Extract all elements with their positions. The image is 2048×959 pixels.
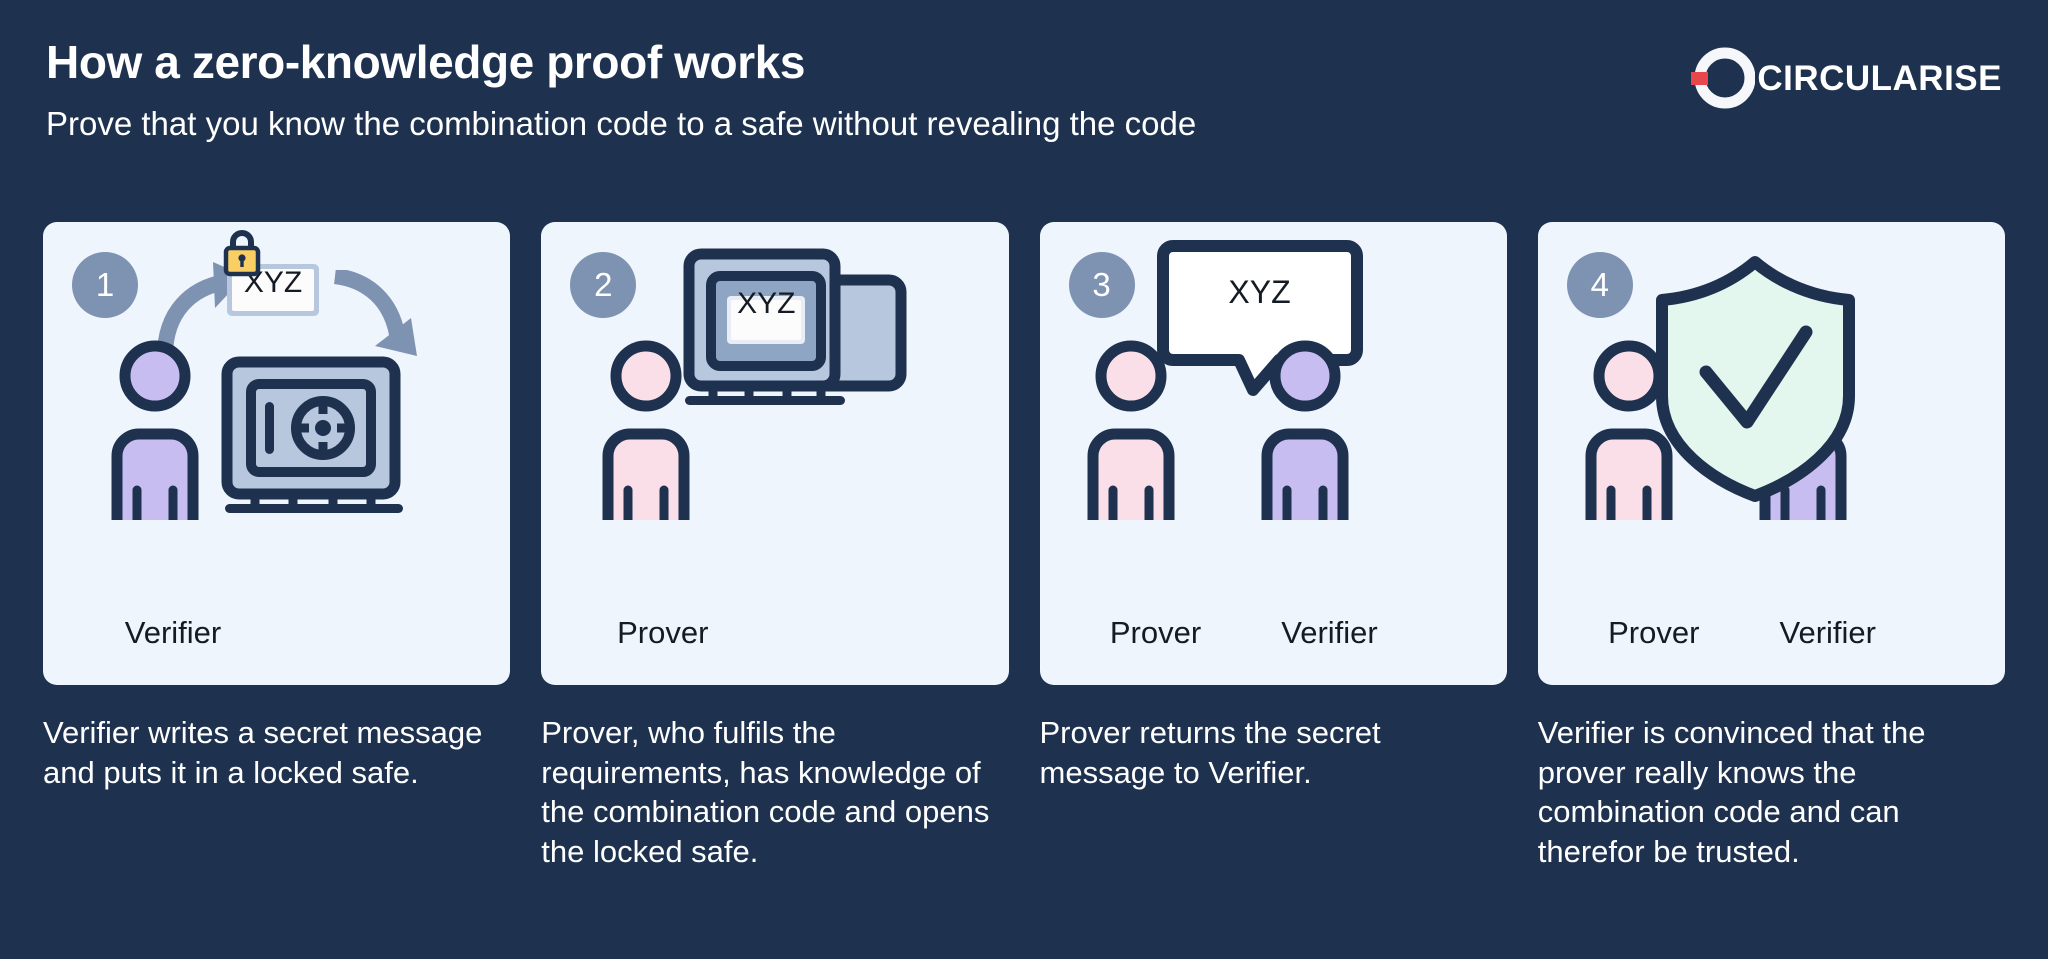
page-subtitle: Prove that you know the combination code…: [46, 106, 2002, 142]
padlock-icon: [219, 226, 265, 280]
note-text-2: XYZ: [731, 289, 801, 319]
steps-row: 1 XYZ: [43, 222, 2005, 872]
step-card-2: 2 XYZ: [541, 222, 1008, 685]
person-prover-icon: [591, 340, 731, 520]
step-card-1: 1 XYZ: [43, 222, 510, 685]
step-number-badge-3: 3: [1069, 252, 1135, 318]
figure-label-verifier-4: Verifier: [1728, 617, 1928, 648]
step-number-badge-4: 4: [1567, 252, 1633, 318]
logo[interactable]: CIRCULARISE: [1691, 46, 2002, 110]
step-panel-1: 1 XYZ: [43, 222, 510, 872]
infographic-root: How a zero-knowledge proof works Prove t…: [0, 0, 2048, 959]
step-panel-3: 3 XYZ: [1040, 222, 1507, 872]
figure-label-verifier-1: Verifier: [43, 617, 303, 648]
step-caption-2: Prover, who fulfils the requirements, ha…: [541, 713, 1008, 872]
step-number-badge-2: 2: [570, 252, 636, 318]
closed-safe-icon: [215, 354, 415, 522]
logo-wordmark: CIRCULARISE: [1757, 61, 2002, 96]
circularise-ring-icon: [1691, 46, 1755, 110]
step-number-badge-1: 1: [72, 252, 138, 318]
person-prover-icon: [1076, 340, 1216, 520]
step-caption-4: Verifier is convinced that the prover re…: [1538, 713, 2005, 872]
figure-label-prover-4: Prover: [1554, 617, 1754, 648]
bubble-text-3: XYZ: [1155, 276, 1365, 308]
step-card-4: 4: [1538, 222, 2005, 685]
step-caption-1: Verifier writes a secret message and put…: [43, 713, 510, 792]
figure-label-verifier-3: Verifier: [1230, 617, 1430, 648]
step-caption-3: Prover returns the secret message to Ver…: [1040, 713, 1507, 792]
figure-label-prover-2: Prover: [541, 617, 784, 648]
step-panel-2: 2 XYZ: [541, 222, 1008, 872]
shield-check-icon: [1648, 254, 1863, 504]
person-verifier-icon: [1250, 340, 1390, 520]
step-panel-4: 4: [1538, 222, 2005, 872]
step-card-3: 3 XYZ: [1040, 222, 1507, 685]
figure-label-prover-3: Prover: [1056, 617, 1256, 648]
